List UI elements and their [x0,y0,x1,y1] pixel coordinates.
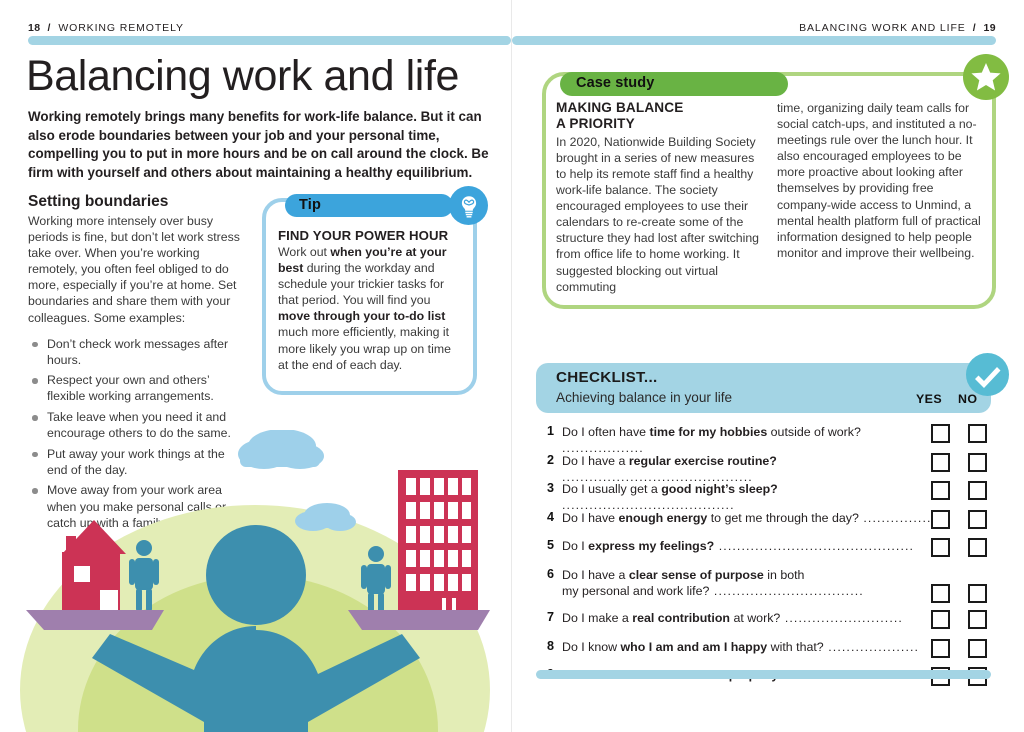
leader-dots: ............... [859,511,932,525]
case-study-columns: MAKING BALANCEA PRIORITY In 2020, Nation… [556,100,982,295]
case-study-column-1: MAKING BALANCEA PRIORITY In 2020, Nation… [556,100,761,295]
checklist-row: 8Do I know who I am and am I happy with … [540,639,995,658]
checklist-row: 3Do I usually get a good night’s sleep? … [540,481,995,500]
page-number-right: 19 [984,22,996,34]
checkbox-no[interactable] [968,610,987,629]
checkbox-yes[interactable] [931,538,950,557]
lightbulb-icon [449,186,488,225]
standfirst-intro: Working remotely brings many benefits fo… [28,108,502,182]
checklist-row-number: 2 [540,453,554,467]
checklist-question: Do I have enough energy to get me throug… [562,510,932,526]
case-study-tab-label: Case study [576,75,654,91]
section-name-right: BALANCING WORK AND LIFE [799,22,966,34]
checklist-footer-rule [536,670,991,679]
checkbox-yes[interactable] [931,584,950,603]
checklist-yes-label: YES [916,392,942,406]
checklist-row: 6Do I have a clear sense of purpose in b… [540,567,995,601]
office-building-icon [398,470,478,610]
tip-tab-label: Tip [299,197,321,213]
list-item: Don’t check work messages after hours. [28,336,240,368]
slash-left: / [40,22,58,34]
check-badge-icon [966,353,1009,396]
case-study-text-1: In 2020, Nationwide Building Society bro… [556,134,761,295]
section-name-left: WORKING REMOTELY [58,22,184,34]
checkbox-no[interactable] [968,584,987,603]
cloud-icon-2 [295,503,356,531]
star-badge-icon [963,54,1009,100]
checklist-title: CHECKLIST... [556,369,657,386]
scale-pan-left [26,610,164,630]
work-life-balance-illustration [0,430,511,732]
checkbox-no[interactable] [968,453,987,472]
checklist-row: 1Do I often have time for my hobbies out… [540,424,995,443]
checklist-row-number: 6 [540,567,554,581]
tip-heading: FIND YOUR POWER HOUR [278,228,463,244]
scale-pan-right [348,610,490,630]
checkbox-yes[interactable] [931,610,950,629]
checklist-no-label: NO [958,392,977,406]
checklist-subtitle: Achieving balance in your life [556,390,732,405]
house-icon [62,520,126,610]
section-heading-setting-boundaries: Setting boundaries [28,193,168,211]
case-study-heading: MAKING BALANCEA PRIORITY [556,100,761,133]
checklist-row-number: 7 [540,610,554,624]
tip-tab: Tip [285,194,453,217]
checkbox-yes[interactable] [931,424,950,443]
case-study-tab: Case study [560,72,788,96]
checkbox-yes[interactable] [931,510,950,529]
checkbox-no[interactable] [968,510,987,529]
book-spread: 18/WORKING REMOTELY BALANCING WORK AND L… [0,0,1024,732]
header-rule-right [512,36,996,45]
page-number-left: 18 [28,22,40,34]
checklist-rows: 1Do I often have time for my hobbies out… [540,424,995,696]
list-item: Respect your own and others’ flexible wo… [28,372,240,404]
checklist-question: Do I have a clear sense of purpose in bo… [562,567,932,600]
checklist-question: Do I make a real contribution at work? .… [562,610,932,626]
running-head-right: BALANCING WORK AND LIFE/19 [799,22,996,34]
checklist-row: 7Do I make a real contribution at work? … [540,610,995,629]
page-gutter [511,0,512,732]
running-head-left: 18/WORKING REMOTELY [28,22,184,34]
body-paragraph: Working more intensely over busy periods… [28,213,240,326]
checklist-row: 4Do I have enough energy to get me throu… [540,510,995,529]
checklist-row-number: 5 [540,538,554,552]
leader-dots: ................................. [709,584,863,598]
checkbox-yes[interactable] [931,639,950,658]
leader-dots: .................... [824,640,919,654]
tip-body: FIND YOUR POWER HOUR Work out when you’r… [278,228,463,373]
checkbox-yes[interactable] [931,453,950,472]
case-study-text-2: time, organizing daily team calls for so… [777,100,982,261]
checklist-question: Do I express my feelings? ..............… [562,538,932,554]
checkbox-no[interactable] [968,481,987,500]
checkbox-no[interactable] [968,639,987,658]
checkbox-no[interactable] [968,424,987,443]
page-title: Balancing work and life [26,52,459,100]
checkbox-no[interactable] [968,538,987,557]
slash-right: / [966,22,984,34]
checklist-row-number: 1 [540,424,554,438]
cloud-icon [238,430,324,469]
header-rule-left [28,36,511,45]
checkbox-yes[interactable] [931,481,950,500]
case-study-column-2: time, organizing daily team calls for so… [777,100,982,295]
checklist-question: Do I know who I am and am I happy with t… [562,639,932,655]
checklist-row: 5Do I express my feelings? .............… [540,538,995,557]
checklist-row: 2Do I have a regular exercise routine? .… [540,453,995,472]
leader-dots: .......................... [780,611,903,625]
checklist-row-number: 3 [540,481,554,495]
checklist-row-number: 4 [540,510,554,524]
leader-dots: ........................................… [714,539,914,553]
checklist-row-number: 8 [540,639,554,653]
tip-text: Work out when you’re at your best during… [278,245,451,372]
